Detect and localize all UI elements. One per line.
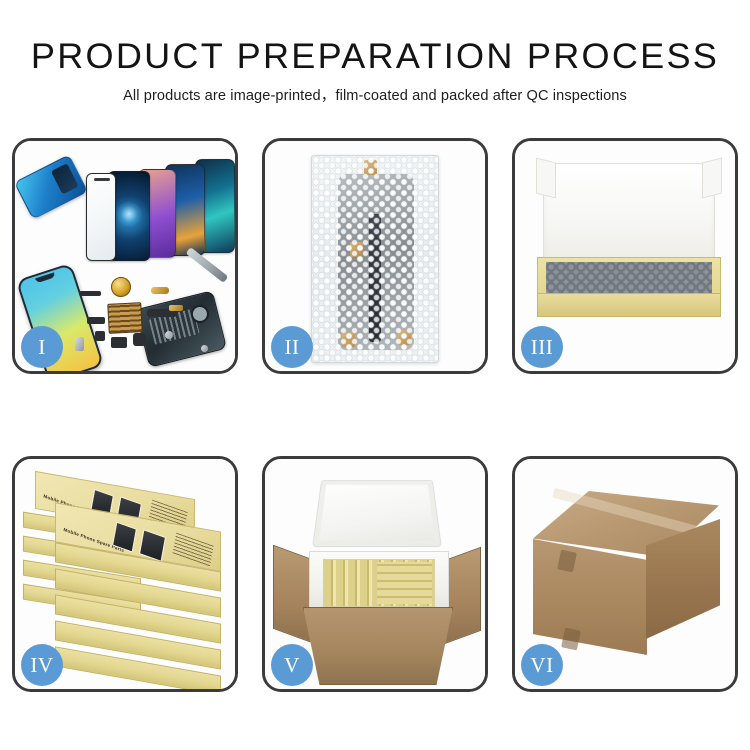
gold-coil-part [111, 277, 131, 297]
step-badge-5: V [271, 644, 313, 686]
process-step-5: V [262, 456, 488, 692]
small-part-camera [133, 333, 146, 346]
process-grid: I II [12, 138, 738, 692]
small-part-strip [79, 291, 101, 296]
step-badge-1: I [21, 326, 63, 368]
carton-front-face [533, 539, 647, 655]
process-step-1: I [12, 138, 238, 374]
step-badge-3: III [521, 326, 563, 368]
small-part-bracket [87, 317, 105, 324]
bubble-texture [312, 156, 438, 362]
screen-protector-glass [86, 173, 116, 261]
carton-handle-tab-bottom [561, 628, 581, 651]
small-part-sim-tray [75, 337, 84, 351]
process-step-4: Mobile Phone Spare Parts Mobile Phone Sp… [12, 456, 238, 692]
foam-contents [323, 559, 435, 607]
packed-boxes-stack [377, 562, 432, 604]
header: PRODUCT PREPARATION PROCESS All products… [0, 0, 750, 105]
foam-lid [312, 480, 442, 547]
process-step-3: III [512, 138, 738, 374]
outer-carton-open [303, 607, 453, 685]
step-badge-4: IV [21, 644, 63, 686]
step-badge-2: II [271, 326, 313, 368]
box-spec-lines-2 [172, 533, 213, 568]
infographic-sheet: PRODUCT PREPARATION PROCESS All products… [0, 0, 750, 750]
small-part-screw [165, 331, 173, 339]
process-step-6: VI [512, 456, 738, 692]
small-part-contact [169, 305, 183, 311]
page-title: PRODUCT PREPARATION PROCESS [0, 38, 750, 75]
bubble-wrap-bag [311, 155, 439, 363]
chip-grid-part [107, 302, 143, 334]
small-part-speaker [111, 337, 127, 348]
small-part-connector [151, 287, 169, 294]
process-step-2: II [262, 138, 488, 374]
box-front-panel [537, 293, 721, 317]
page-subtitle: All products are image-printed，film-coat… [0, 84, 750, 105]
step-badge-6: VI [521, 644, 563, 686]
small-part-screw-2 [201, 345, 208, 352]
small-part-button [95, 331, 105, 341]
